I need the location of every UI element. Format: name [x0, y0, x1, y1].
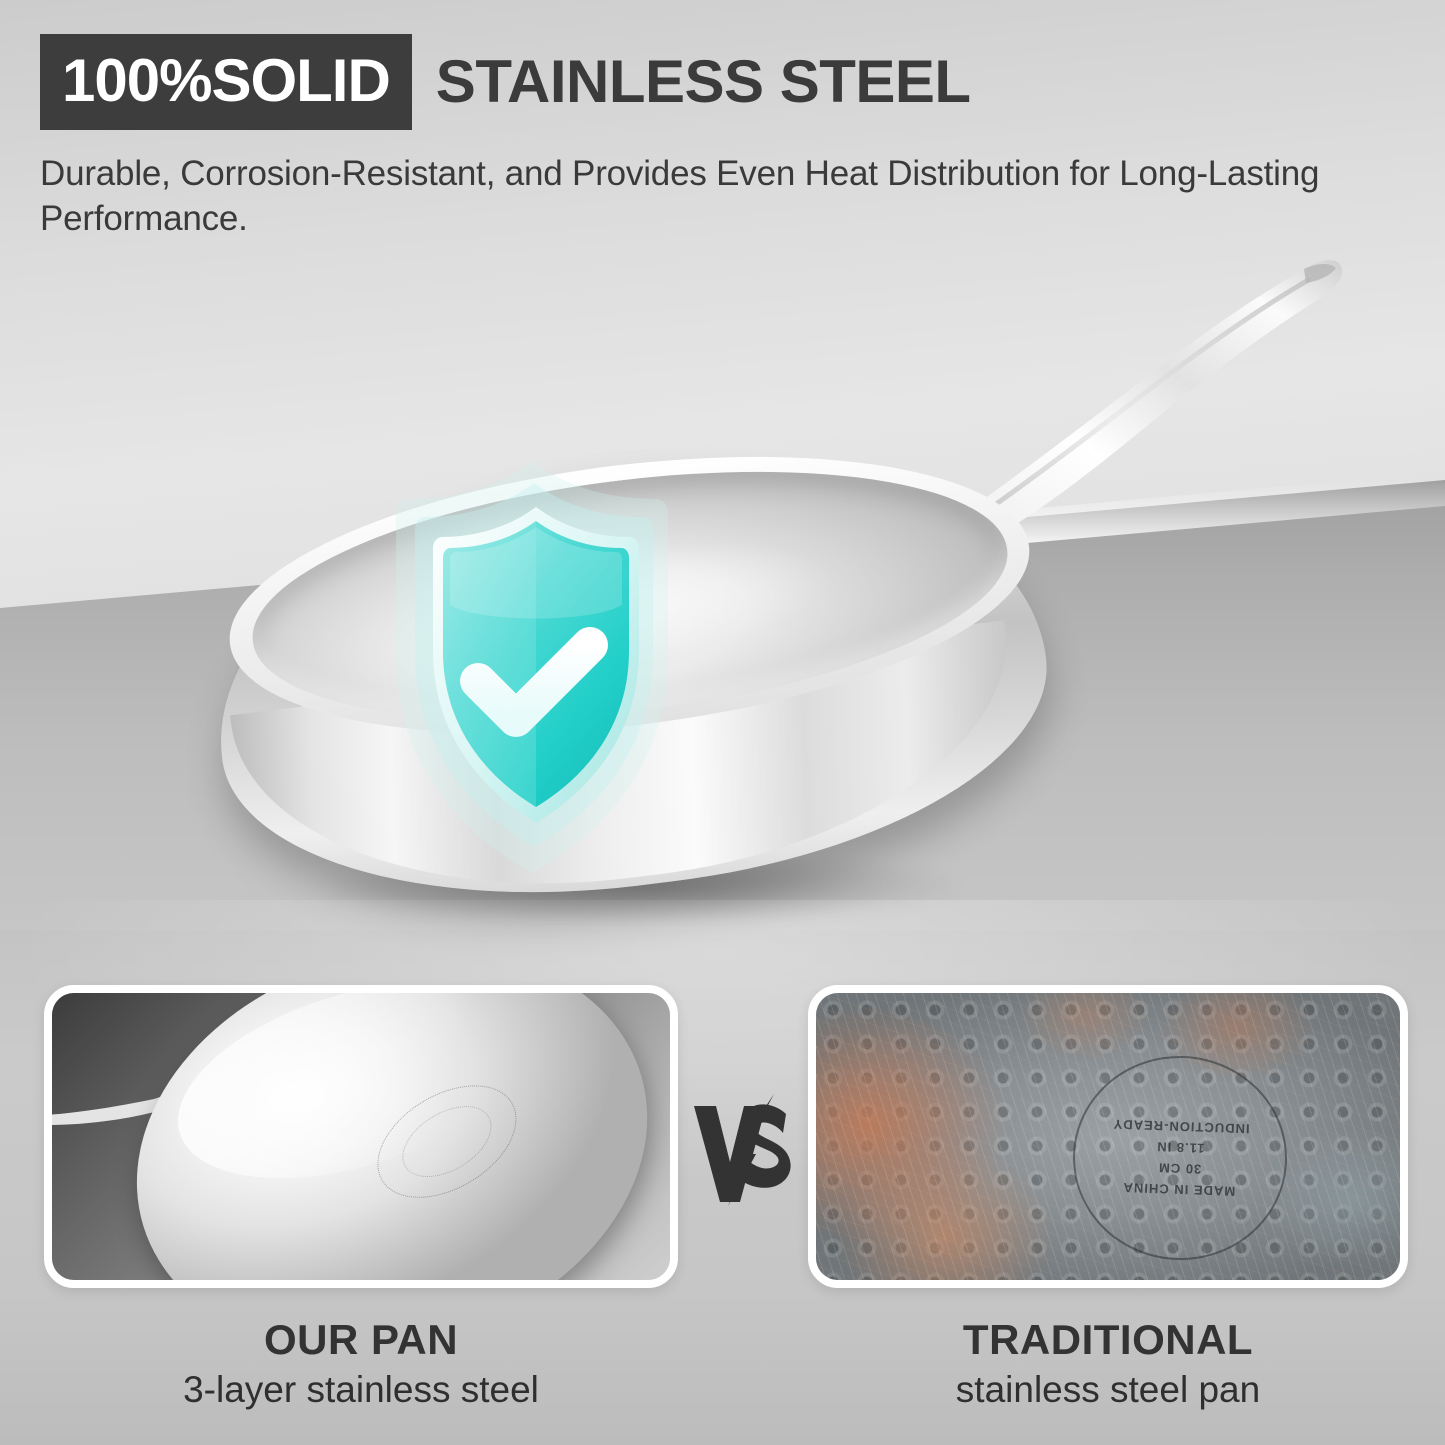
stamp-line-cm: 30 CM: [1158, 1160, 1202, 1177]
stamp-line-in: 11.8 IN: [1156, 1139, 1205, 1156]
product-feature-graphic: 100%SOLID STAINLESS STEEL Durable, Corro…: [0, 0, 1445, 1445]
our-pan-title: OUR PAN: [44, 1318, 678, 1362]
traditional-pan-title: TRADITIONAL: [808, 1318, 1408, 1362]
hero-pan-illustration: [0, 190, 1445, 980]
stamp-line-induction: INDUCTION-READY: [1112, 1117, 1250, 1137]
vs-divider-icon: [690, 1088, 800, 1208]
solid-badge: 100%SOLID: [40, 34, 412, 130]
comparison-captions: OUR PAN 3-layer stainless steel TRADITIO…: [0, 1318, 1445, 1443]
our-pan-base-photo: [52, 993, 670, 1280]
traditional-pan-caption: TRADITIONAL stainless steel pan: [808, 1318, 1408, 1411]
headline: 100%SOLID STAINLESS STEEL: [40, 34, 1420, 130]
traditional-pan-rusted-photo: MADE IN CHINA 30 CM 11.8 IN INDUCTION-RE…: [816, 993, 1400, 1280]
our-pan-panel[interactable]: [44, 985, 678, 1288]
our-pan-caption: OUR PAN 3-layer stainless steel: [44, 1318, 678, 1411]
headline-text: STAINLESS STEEL: [436, 52, 971, 112]
traditional-pan-subtitle: stainless steel pan: [808, 1370, 1408, 1411]
our-pan-base: [86, 985, 678, 1288]
our-pan-subtitle: 3-layer stainless steel: [44, 1370, 678, 1411]
traditional-pan-panel[interactable]: MADE IN CHINA 30 CM 11.8 IN INDUCTION-RE…: [808, 985, 1408, 1288]
shield-check-icon: [300, 455, 770, 885]
stamp-line-made-in: MADE IN CHINA: [1122, 1180, 1235, 1199]
